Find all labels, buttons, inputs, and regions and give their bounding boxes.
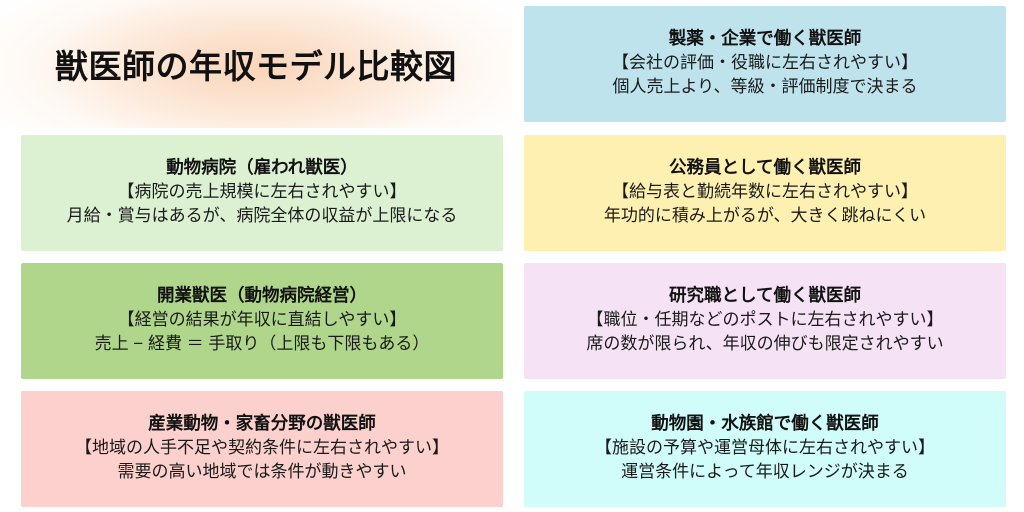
- card-bracket-line: 【給与表と勤続年数に左右されやすい】: [612, 180, 918, 204]
- card-detail-line: 運営条件によって年収レンジが決まる: [621, 460, 909, 484]
- card-heading: 動物病院（雇われ獣医）: [166, 155, 358, 180]
- card-zoo-aquarium-vet: 動物園・水族館で働く獣医師 【施設の予算や運営母体に左右されやすい】 運営条件に…: [524, 391, 1006, 507]
- card-heading: 研究職として働く獣医師: [669, 283, 861, 308]
- card-detail-line: 売上 − 経費 ＝ 手取り（上限も下限もある）: [95, 332, 430, 356]
- card-detail-line: 年功的に積み上がるが、大きく跳ねにくい: [604, 204, 926, 228]
- card-detail-line: 席の数が限られ、年収の伸びも限定されやすい: [586, 332, 943, 356]
- card-heading: 開業獣医（動物病院経営）: [157, 283, 367, 308]
- title-cell: 獣医師の年収モデル比較図: [0, 0, 512, 128]
- card-heading: 産業動物・家畜分野の獣医師: [148, 411, 376, 436]
- card-bracket-line: 【職位・任期などのポストに左右されやすい】: [587, 308, 944, 332]
- card-pharma-corporate-vet: 製薬・企業で働く獣医師 【会社の評価・役職に左右されやすい】 個人売上より、等級…: [524, 6, 1006, 122]
- card-bracket-line: 【会社の評価・役職に左右されやすい】: [612, 51, 918, 75]
- card-heading: 動物園・水族館で働く獣医師: [651, 411, 879, 436]
- card-detail-line: 個人売上より、等級・評価制度で決まる: [613, 75, 918, 99]
- page-title: 獣医師の年収モデル比較図: [55, 40, 457, 88]
- card-animal-hospital-employed-vet: 動物病院（雇われ獣医） 【病院の売上規模に左右されやすい】 月給・賞与はあるが、…: [21, 135, 503, 251]
- card-heading: 公務員として働く獣医師: [669, 155, 861, 180]
- card-bracket-line: 【地域の人手不足や契約条件に左右されやすい】: [75, 436, 449, 460]
- card-livestock-industry-vet: 産業動物・家畜分野の獣医師 【地域の人手不足や契約条件に左右されやすい】 需要の…: [21, 391, 503, 507]
- infographic-board: 獣医師の年収モデル比較図 製薬・企業で働く獣医師 【会社の評価・役職に左右されや…: [0, 0, 1024, 512]
- card-bracket-line: 【施設の予算や運営母体に左右されやすい】: [595, 436, 935, 460]
- card-heading: 製薬・企業で働く獣医師: [669, 26, 862, 51]
- card-detail-line: 月給・賞与はあるが、病院全体の収益が上限になる: [67, 204, 458, 228]
- card-independent-clinic-owner-vet: 開業獣医（動物病院経営） 【経営の結果が年収に直結しやすい】 売上 − 経費 ＝…: [21, 263, 503, 379]
- card-research-position-vet: 研究職として働く獣医師 【職位・任期などのポストに左右されやすい】 席の数が限ら…: [524, 263, 1006, 379]
- card-public-servant-vet: 公務員として働く獣医師 【給与表と勤続年数に左右されやすい】 年功的に積み上がる…: [524, 135, 1006, 251]
- card-detail-line: 需要の高い地域では条件が動きやすい: [118, 460, 407, 484]
- card-bracket-line: 【経営の結果が年収に直結しやすい】: [118, 308, 407, 332]
- card-bracket-line: 【病院の売上規模に左右されやすい】: [118, 180, 407, 204]
